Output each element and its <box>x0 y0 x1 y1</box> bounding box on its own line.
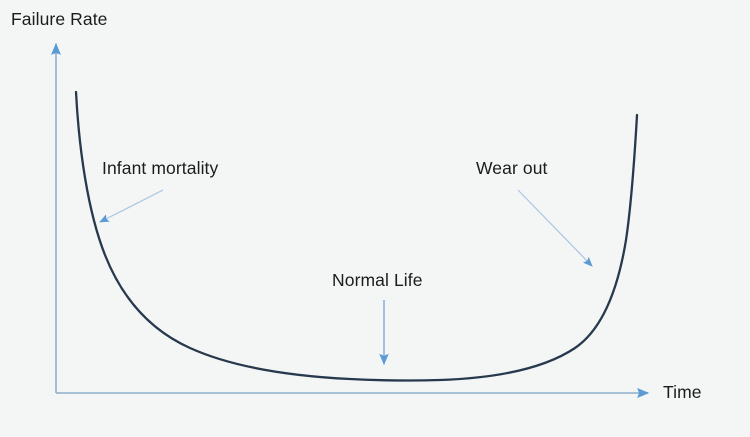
annotation-label-infant-mortality: Infant mortality <box>102 160 218 178</box>
y-axis-label: Failure Rate <box>11 11 108 29</box>
x-axis-label: Time <box>663 384 702 402</box>
infant-mortality-arrow <box>100 190 163 222</box>
bathtub-curve-figure: Failure Rate Time Infant mortality Wear … <box>0 0 750 437</box>
annotation-label-wear-out: Wear out <box>476 160 547 178</box>
annotation-label-normal-life: Normal Life <box>332 272 423 290</box>
wear-out-arrow <box>518 190 592 266</box>
bathtub-curve <box>76 92 637 381</box>
diagram-canvas <box>0 0 750 437</box>
